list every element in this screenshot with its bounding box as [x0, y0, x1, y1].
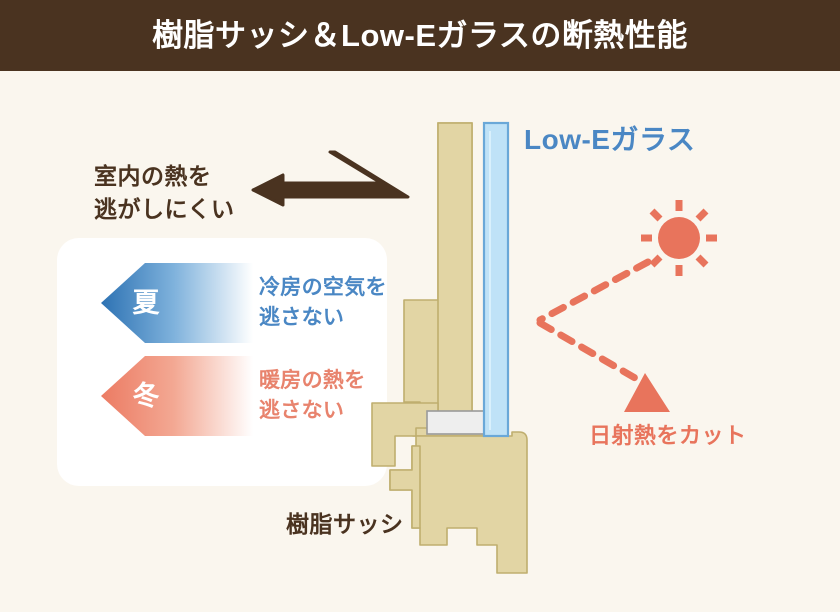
indoor-heat-arrow [253, 152, 408, 205]
low-e-glass-pane [484, 123, 508, 436]
indoor-heat-label: 室内の熱を 逃がしにくい [94, 160, 235, 225]
winter-description-line2: 逃さない [259, 399, 344, 422]
infographic-canvas: 樹脂サッシ＆Low-Eガラスの断熱性能 室内の熱を 逃がしにくい [0, 0, 840, 612]
winter-description: 暖房の熱を 逃さない [259, 366, 366, 427]
summer-kanji: 夏 [123, 263, 169, 343]
winter-description-line1: 暖房の熱を [259, 369, 366, 392]
page-title: 樹脂サッシ＆Low-Eガラスの断熱性能 [0, 0, 840, 71]
solar-incoming-dashed-ray [540, 262, 648, 320]
indoor-heat-label-line1: 室内の熱を [94, 163, 212, 189]
winter-arrow: 冬 [101, 356, 253, 436]
winter-kanji: 冬 [123, 356, 169, 436]
low-e-glass-label: Low-Eガラス [524, 118, 695, 158]
resin-sash-label: 樹脂サッシ [286, 505, 404, 539]
season-row-winter: 冬 暖房の熱を 逃さない [101, 356, 366, 436]
solar-reflected-dashed-ray [540, 323, 642, 382]
season-row-summer: 夏 冷房の空気を 逃さない [101, 263, 387, 343]
sun-rays-icon [641, 200, 717, 276]
summer-description-line1: 冷房の空気を [259, 276, 387, 299]
summer-description-line2: 逃さない [259, 306, 344, 329]
sash-vertical-frame [404, 123, 486, 436]
solar-cut-label: 日射熱をカット [589, 418, 747, 450]
indoor-heat-label-line2: 逃がしにくい [94, 196, 235, 222]
sash-jamb-upper [438, 123, 472, 428]
sash-weather-seal [427, 411, 486, 434]
sun-icon [658, 217, 700, 259]
summer-description: 冷房の空気を 逃さない [259, 273, 387, 334]
solar-reflection-arrowhead-icon [624, 373, 670, 412]
summer-arrow: 夏 [101, 263, 253, 343]
sash-sill-profile [390, 432, 527, 573]
